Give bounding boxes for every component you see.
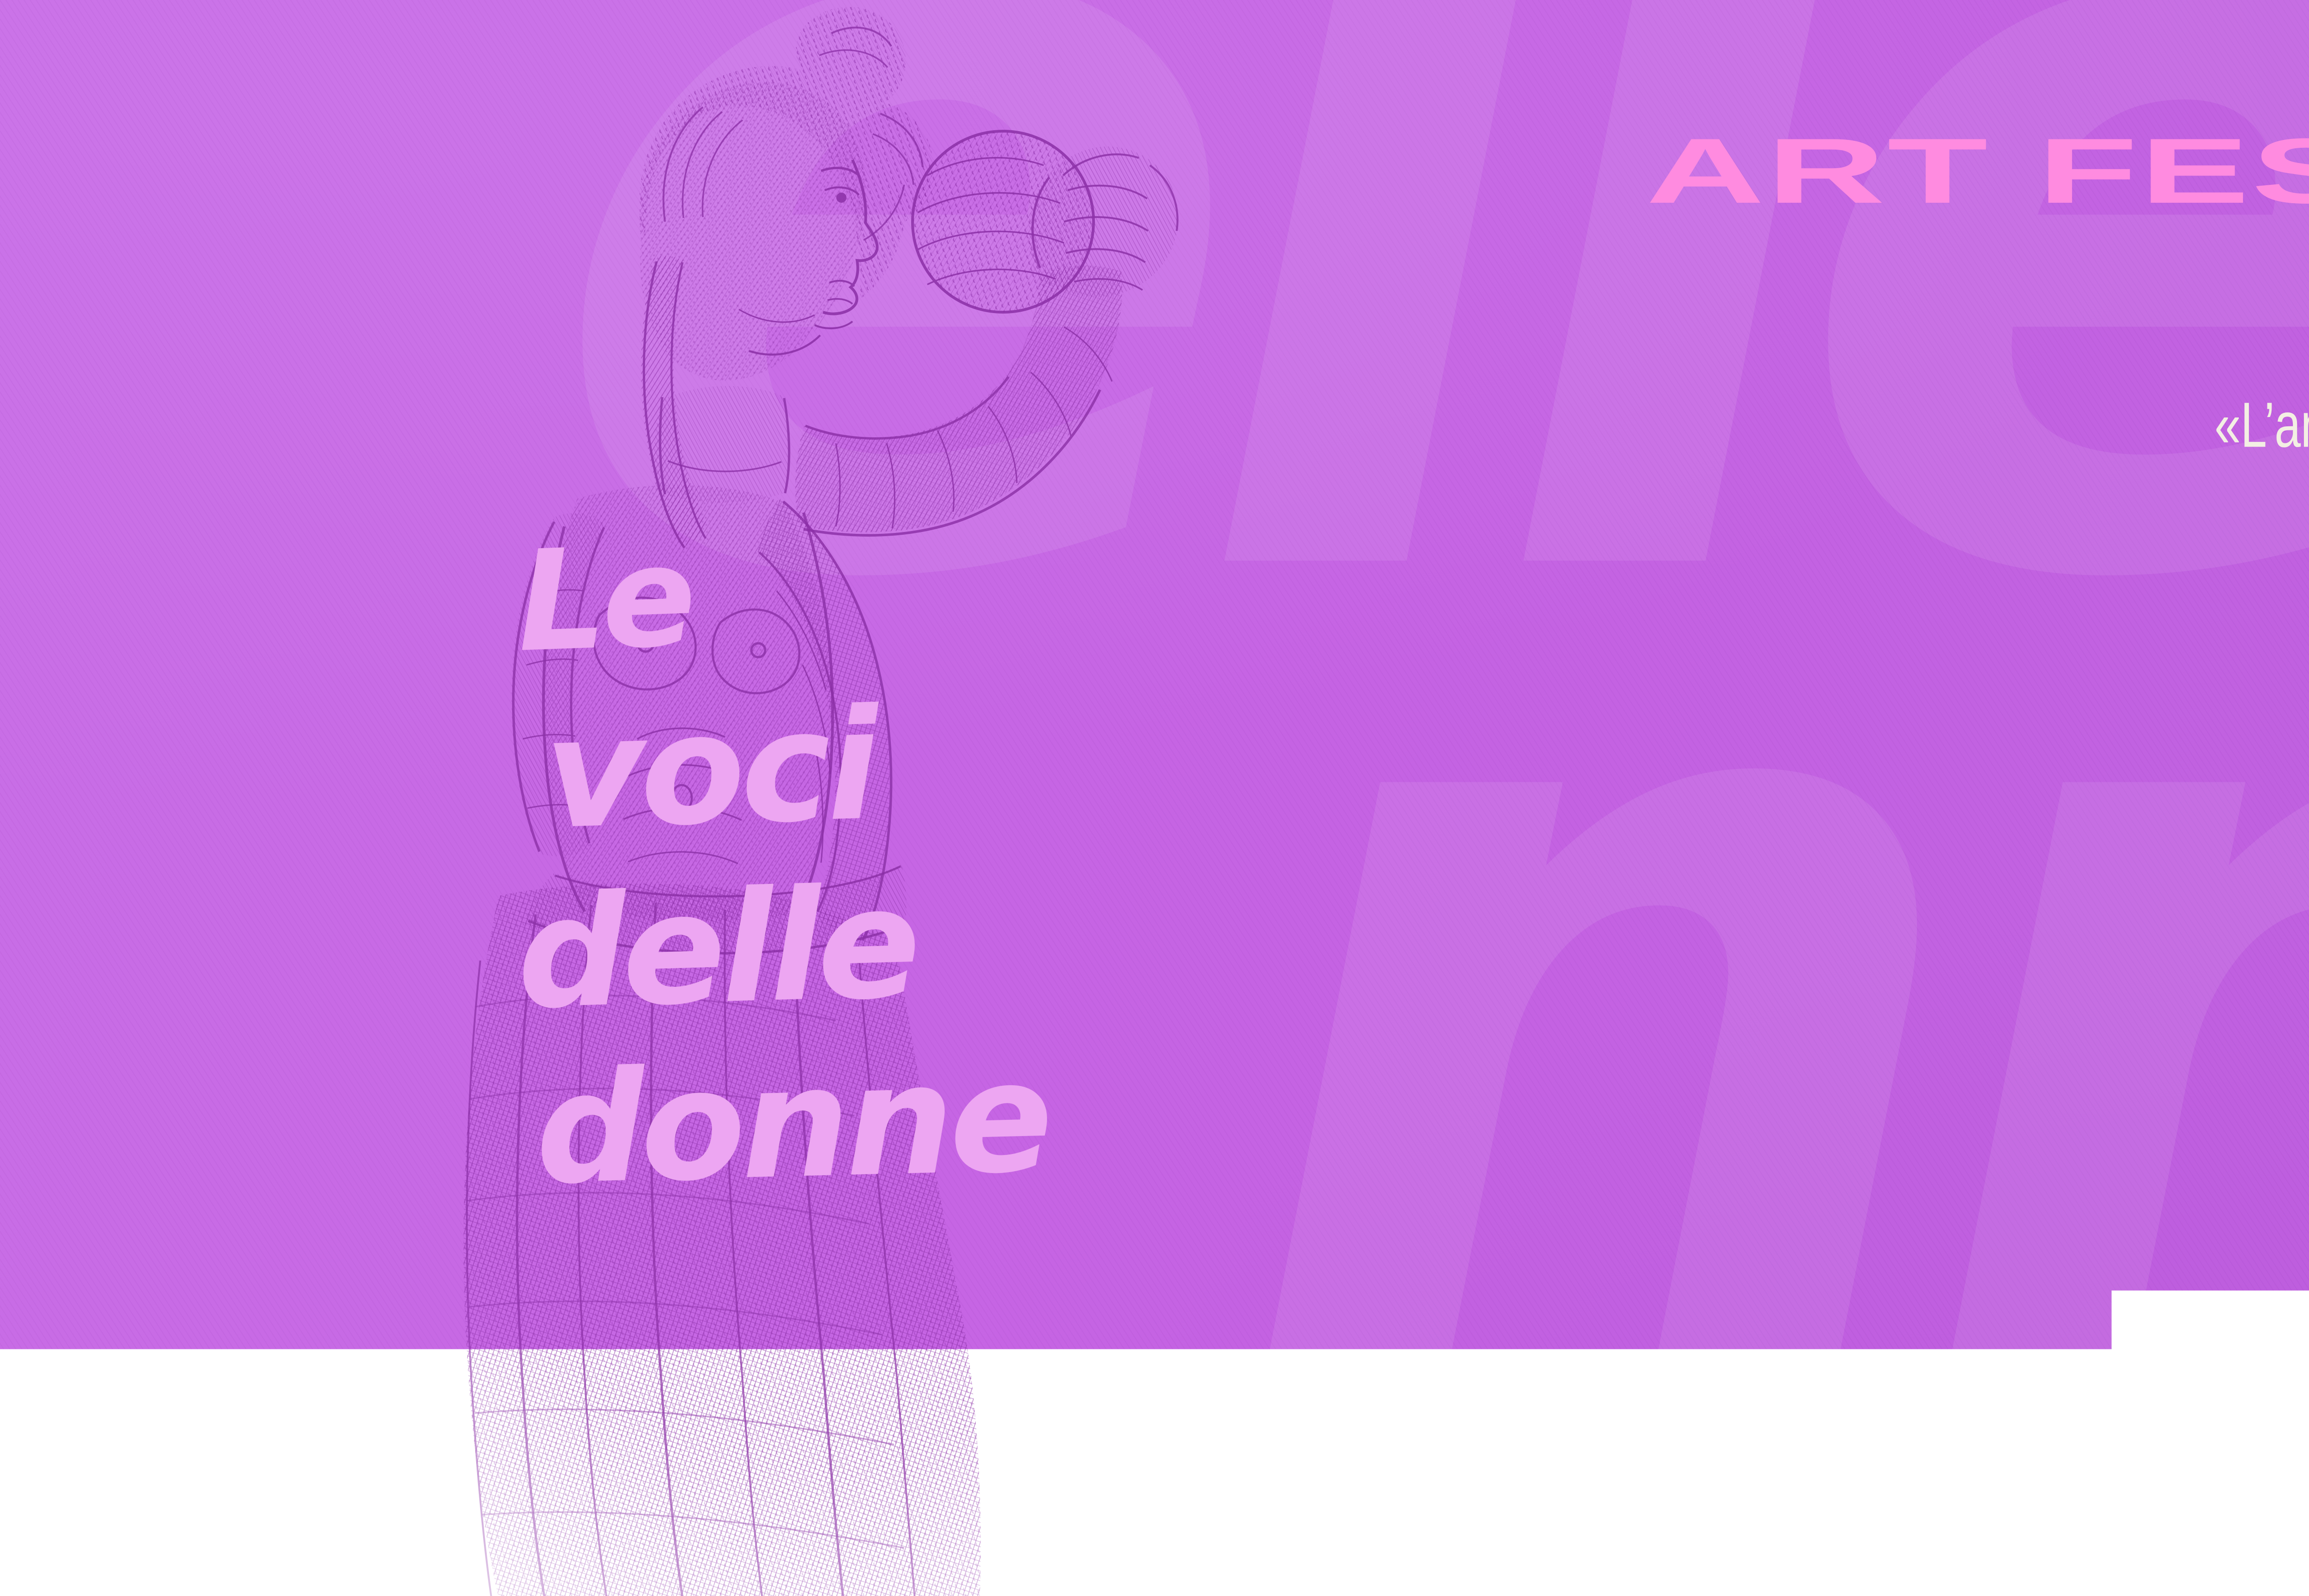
quote-line-3-text: Bisogna solo smettere di avere [2207,526,2309,676]
poster-info-column: ART FESTIVAL «L’anima selvaggia conosce … [1450,0,2309,1596]
quote-line-1-text: «L’anima selvaggia conosce il [2214,388,2309,463]
poster-canvas: elle nne [0,0,2309,1596]
quote-attribution: — Clarissa Pinkola Estés [2050,740,2309,775]
quote-line-2: cammino. [2050,457,2309,526]
quote-line-1: «L’anima selvaggia conosce il [2050,388,2309,457]
quote-block: «L’anima selvaggia conosce il cammino. B… [2050,388,2309,775]
festival-title-text: ART FESTIVAL [1646,133,2309,209]
festival-title: ART FESTIVAL [1778,78,2309,214]
quote-line-3: Bisogna solo smettere di avere [2050,526,2309,665]
